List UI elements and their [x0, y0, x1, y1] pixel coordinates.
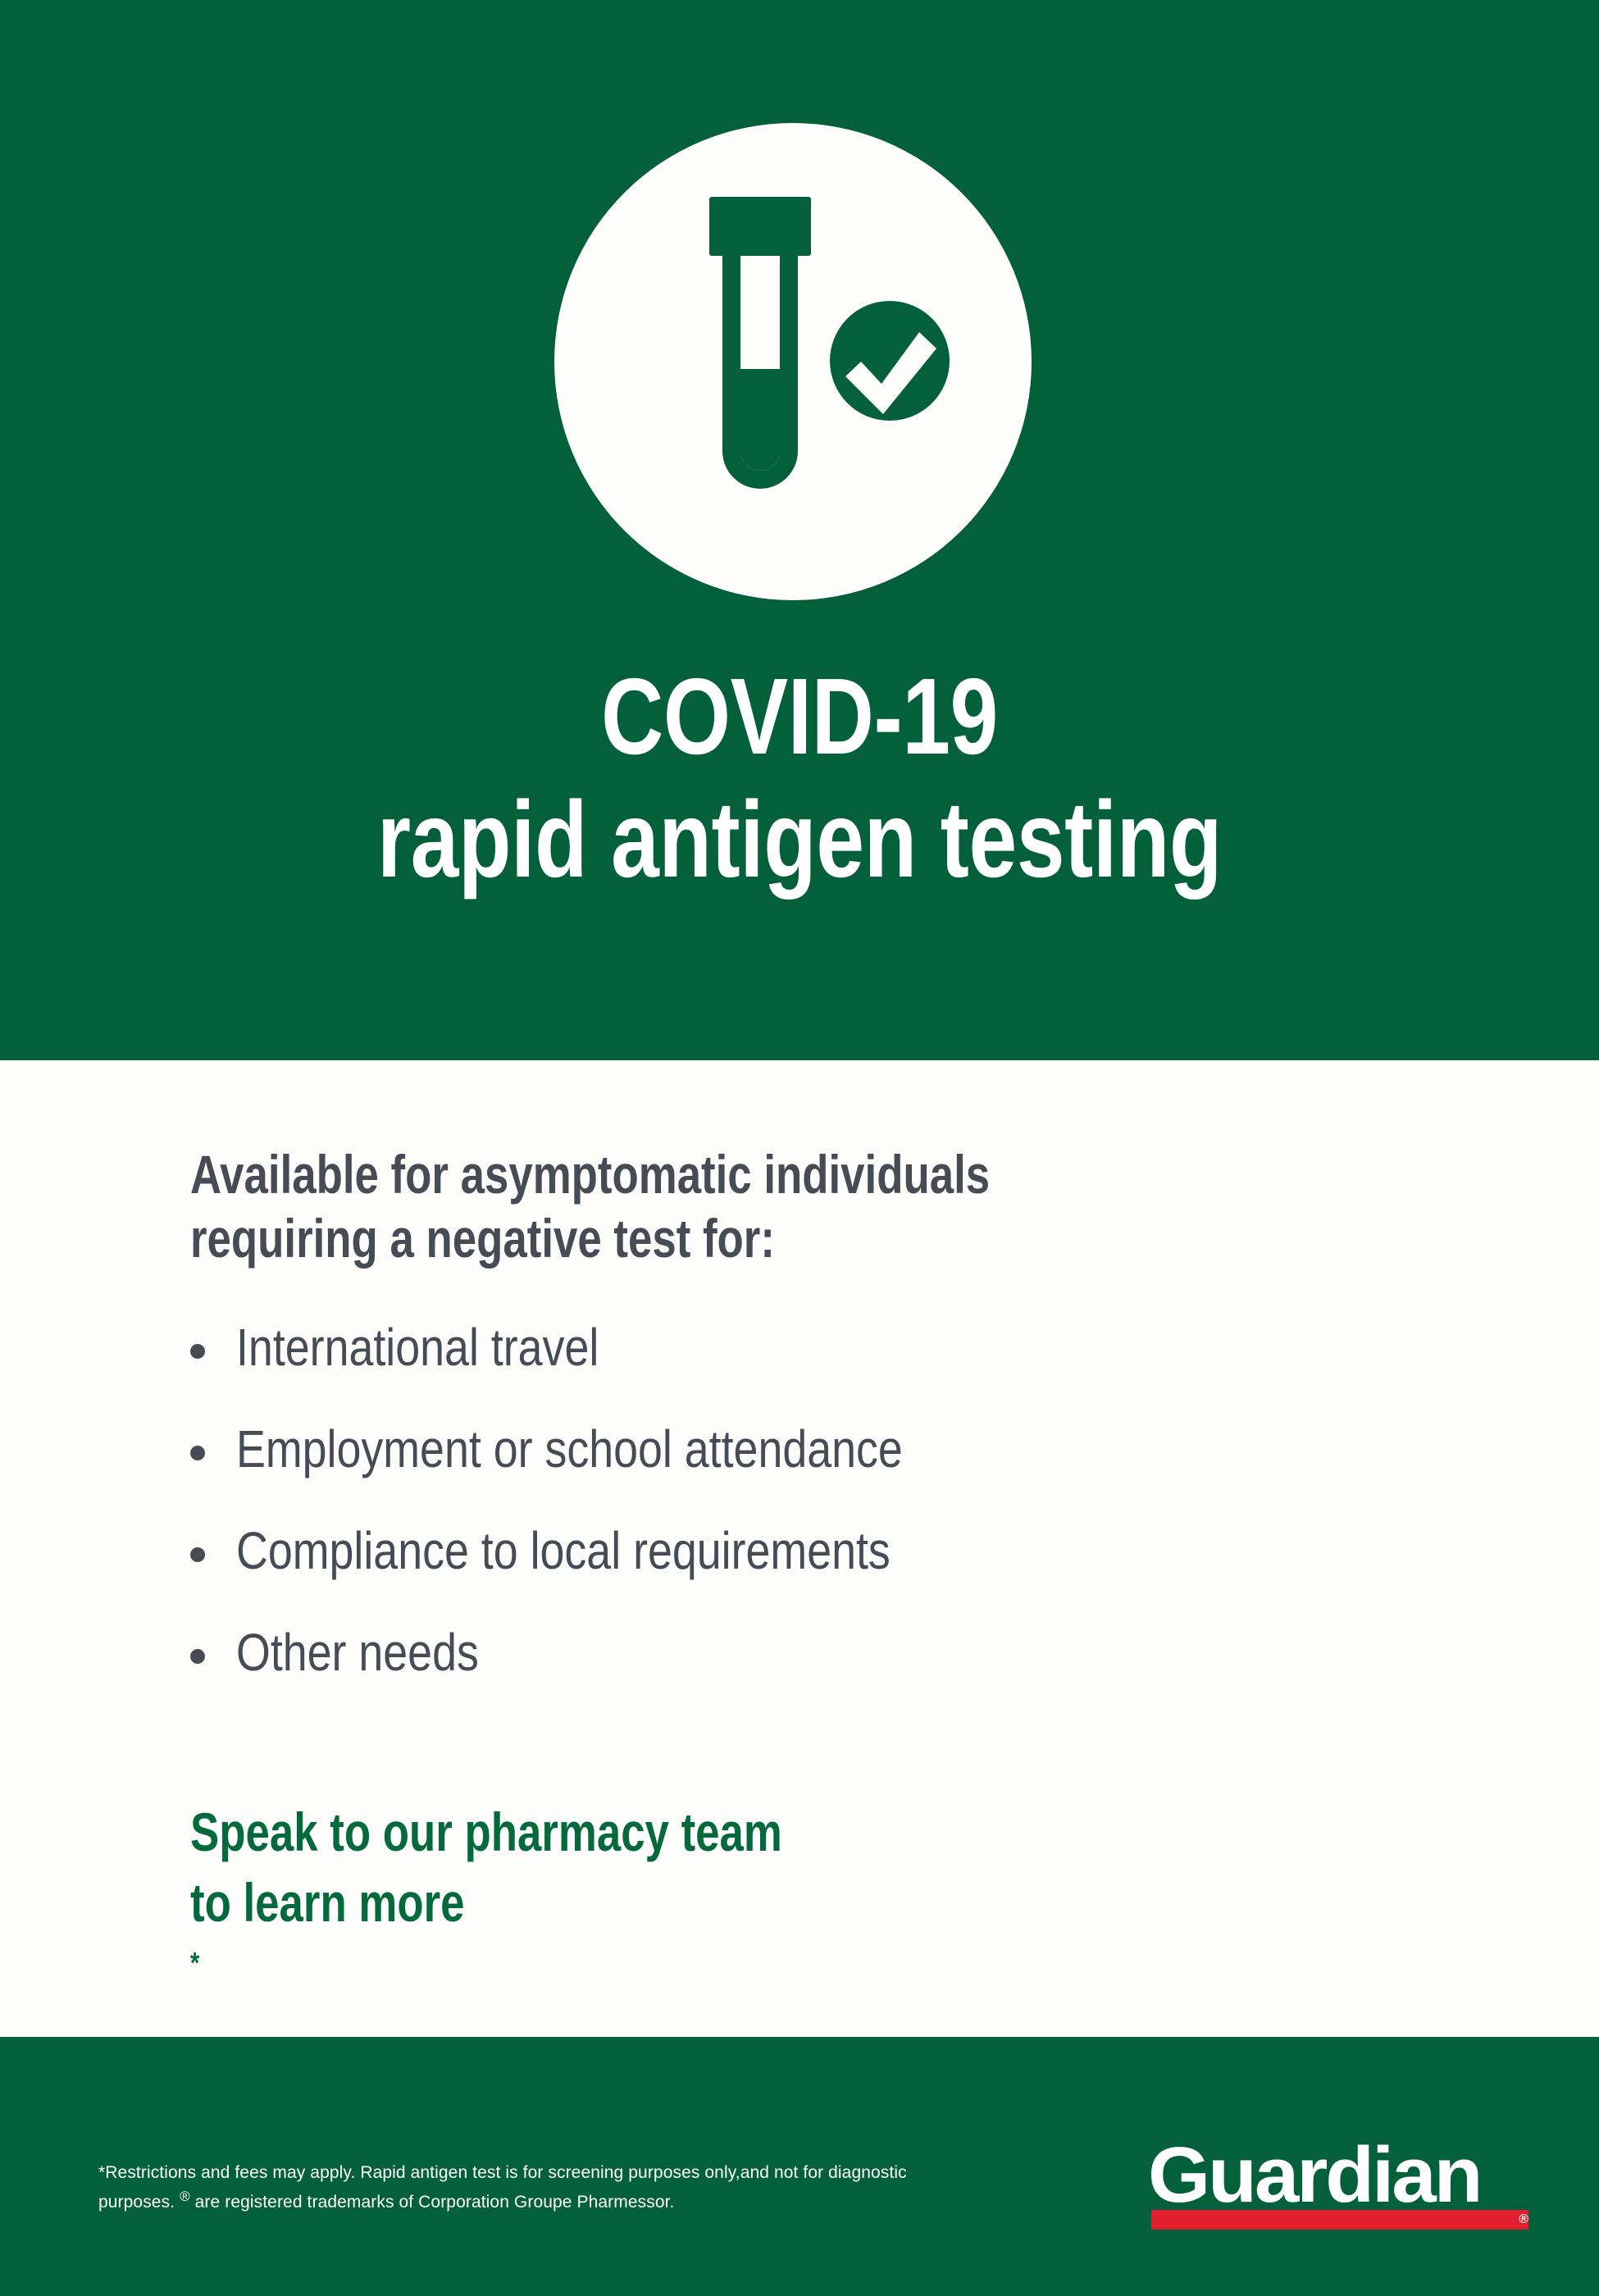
- registered-trademark-icon: ®: [180, 2189, 190, 2204]
- guardian-logo[interactable]: Guardian ®: [1148, 2136, 1533, 2243]
- guardian-registered-trademark-icon: ®: [1519, 2212, 1528, 2228]
- bullet-dot-icon: [190, 1344, 205, 1359]
- title-line-1: COVID-19: [160, 656, 1439, 777]
- bullet-dot-icon: [190, 1649, 205, 1664]
- list-item: International travel: [190, 1308, 1502, 1400]
- lead-heading: Available for asymptomatic individuals r…: [190, 1142, 1502, 1270]
- cta-line-1: Speak to our pharmacy team: [190, 1797, 1502, 1867]
- title-line-2: rapid antigen testing: [160, 777, 1439, 902]
- lead-heading-line-1: Available for asymptomatic individuals: [190, 1142, 1502, 1206]
- list-item: Compliance to local requirements: [190, 1511, 1502, 1603]
- bullet-dot-icon: [190, 1547, 205, 1562]
- guardian-logo-red-bar: [1151, 2210, 1528, 2230]
- poster-root: COVID-19 rapid antigen testing Available…: [0, 0, 1599, 2296]
- bullet-dot-icon: [190, 1446, 205, 1460]
- guardian-logo-wordmark: Guardian: [1148, 2136, 1541, 2215]
- eligibility-list: International travel Employment or schoo…: [190, 1308, 1502, 1705]
- cta-asterisk: *: [190, 1946, 199, 1979]
- lead-heading-line-2: requiring a negative test for:: [190, 1206, 1502, 1270]
- list-item: Employment or school attendance: [190, 1410, 1502, 1501]
- list-item-label: Other needs: [236, 1613, 1300, 1692]
- list-item: Other needs: [190, 1613, 1502, 1705]
- list-item-label: Compliance to local requirements: [236, 1511, 1300, 1590]
- legal-text-part-2: are registered trademarks of Corporation…: [190, 2193, 675, 2212]
- poster-title: COVID-19 rapid antigen testing: [0, 656, 1599, 902]
- body-section: Available for asymptomatic individuals r…: [0, 1060, 1599, 2037]
- cta-line-2-text: to learn more: [190, 1867, 1502, 1938]
- legal-disclaimer: *Restrictions and fees may apply. Rapid …: [98, 2158, 943, 2217]
- header-band: COVID-19 rapid antigen testing: [0, 0, 1599, 1060]
- test-tube-check-icon: [554, 123, 1032, 600]
- body-content: Available for asymptomatic individuals r…: [190, 1060, 1502, 2079]
- list-item-label: International travel: [236, 1308, 1300, 1387]
- list-item-label: Employment or school attendance: [236, 1410, 1300, 1488]
